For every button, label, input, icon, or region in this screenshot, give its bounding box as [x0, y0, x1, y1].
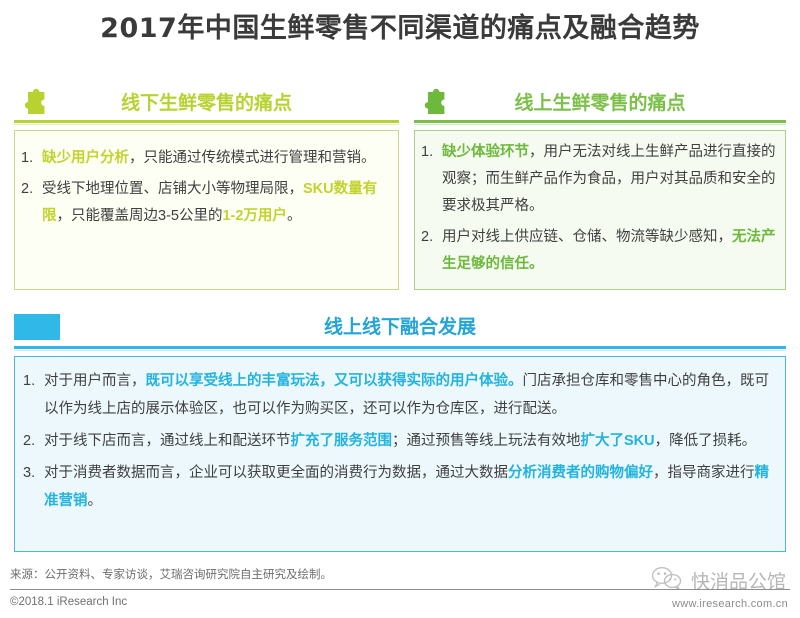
- panel-header-offline: 线下生鲜零售的痛点: [14, 86, 399, 130]
- body-text: 对于线下店而言，通过线上和配送环节: [44, 433, 291, 449]
- copyright-text: ©2018.1 iResearch Inc: [10, 596, 127, 608]
- list-item: 1.对于用户而言，既可以享受线上的丰富玩法，又可以获得实际的用户体验。门店承担仓…: [21, 367, 773, 423]
- panel-heading-offline: 线下生鲜零售的痛点: [14, 88, 399, 115]
- body-text: 用户对线上供应链、仓储、物流等缺少感知，: [442, 229, 732, 245]
- highlighted-text: 分析消费者的购物偏好: [508, 465, 653, 481]
- highlighted-text: 缺少用户分析: [42, 150, 129, 166]
- fusion-items-list: 1.对于用户而言，既可以享受线上的丰富玩法，又可以获得实际的用户体验。门店承担仓…: [21, 367, 773, 515]
- wechat-icon: [650, 566, 684, 595]
- body-text: ，只能通过传统模式进行管理和营销。: [129, 150, 376, 166]
- panel-header-online: 线上生鲜零售的痛点: [414, 86, 786, 130]
- list-item-number: 1.: [21, 145, 39, 172]
- highlighted-text: 扩充了服务范围: [291, 433, 393, 449]
- watermark-text: 快消品公馆: [691, 567, 786, 594]
- panel-heading-fusion: 线上线下融合发展: [14, 312, 786, 339]
- list-item-number: 2.: [21, 176, 39, 203]
- highlighted-text: 既可以享受线上的丰富玩法，又可以获得实际的用户体验。: [146, 373, 523, 389]
- list-item: 2.受线下地理位置、店铺大小等物理局限，SKU数量有限，只能覆盖周边3-5公里的…: [19, 176, 388, 230]
- body-text: 。: [287, 208, 302, 224]
- body-text: ；通过预售等线上玩法有效地: [392, 433, 581, 449]
- list-item-number: 3.: [23, 459, 41, 487]
- body-text: 对于用户而言，: [44, 373, 146, 389]
- list-item-number: 1.: [421, 139, 439, 166]
- offline-pain-points-box: 1.缺少用户分析，只能通过传统模式进行管理和营销。2.受线下地理位置、店铺大小等…: [14, 130, 399, 290]
- online-items-list: 1.缺少体验环节，用户无法对线上生鲜产品进行直接的观察；而生鲜产品作为食品，用户…: [419, 139, 777, 278]
- online-pain-points-box: 1.缺少体验环节，用户无法对线上生鲜产品进行直接的观察；而生鲜产品作为食品，用户…: [414, 130, 786, 290]
- list-item: 2.用户对线上供应链、仓储、物流等缺少感知，无法产生足够的信任。: [419, 224, 777, 278]
- highlighted-text: 缺少体验环节: [442, 144, 529, 160]
- panel-header-fusion: 线上线下融合发展: [14, 312, 786, 356]
- offline-items-list: 1.缺少用户分析，只能通过传统模式进行管理和营销。2.受线下地理位置、店铺大小等…: [19, 145, 388, 230]
- body-text: 。: [88, 493, 103, 509]
- body-text: ，只能覆盖周边3-5公里的: [57, 208, 223, 224]
- source-note: 来源：公开资料、专家访谈，艾瑞咨询研究院自主研究及绘制。: [10, 566, 332, 582]
- highlighted-text: 1-2万用户: [222, 208, 286, 224]
- panel-heading-online: 线上生鲜零售的痛点: [414, 88, 786, 115]
- header-rule-fusion: [14, 346, 786, 351]
- highlighted-text: 扩大了SKU: [581, 433, 655, 449]
- list-item: 3.对于消费者数据而言，企业可以获取更全面的消费行为数据，通过大数据分析消费者的…: [21, 459, 773, 515]
- website-url: www.iresearch.com.cn: [672, 598, 788, 610]
- body-text: 受线下地理位置、店铺大小等物理局限，: [42, 181, 303, 197]
- page-title: 2017年中国生鲜零售不同渠道的痛点及融合趋势: [0, 6, 800, 45]
- list-item-number: 2.: [23, 427, 41, 455]
- header-rule-online: [414, 120, 786, 125]
- list-item: 1.缺少体验环节，用户无法对线上生鲜产品进行直接的观察；而生鲜产品作为食品，用户…: [419, 139, 777, 220]
- infographic-page: 2017年中国生鲜零售不同渠道的痛点及融合趋势 线下生鲜零售的痛点 1.缺少用户…: [0, 0, 800, 618]
- fusion-development-box: 1.对于用户而言，既可以享受线上的丰富玩法，又可以获得实际的用户体验。门店承担仓…: [14, 356, 786, 552]
- watermark: 快消品公馆: [650, 566, 786, 595]
- body-text: 对于消费者数据而言，企业可以获取更全面的消费行为数据，通过大数据: [44, 465, 508, 481]
- body-text: ，降低了损耗。: [655, 433, 757, 449]
- list-item: 2.对于线下店而言，通过线上和配送环节扩充了服务范围；通过预售等线上玩法有效地扩…: [21, 427, 773, 455]
- list-item-number: 1.: [23, 367, 41, 395]
- list-item-number: 2.: [421, 224, 439, 251]
- list-item: 1.缺少用户分析，只能通过传统模式进行管理和营销。: [19, 145, 388, 172]
- header-rule-offline: [14, 120, 399, 125]
- body-text: ，指导商家进行: [653, 465, 755, 481]
